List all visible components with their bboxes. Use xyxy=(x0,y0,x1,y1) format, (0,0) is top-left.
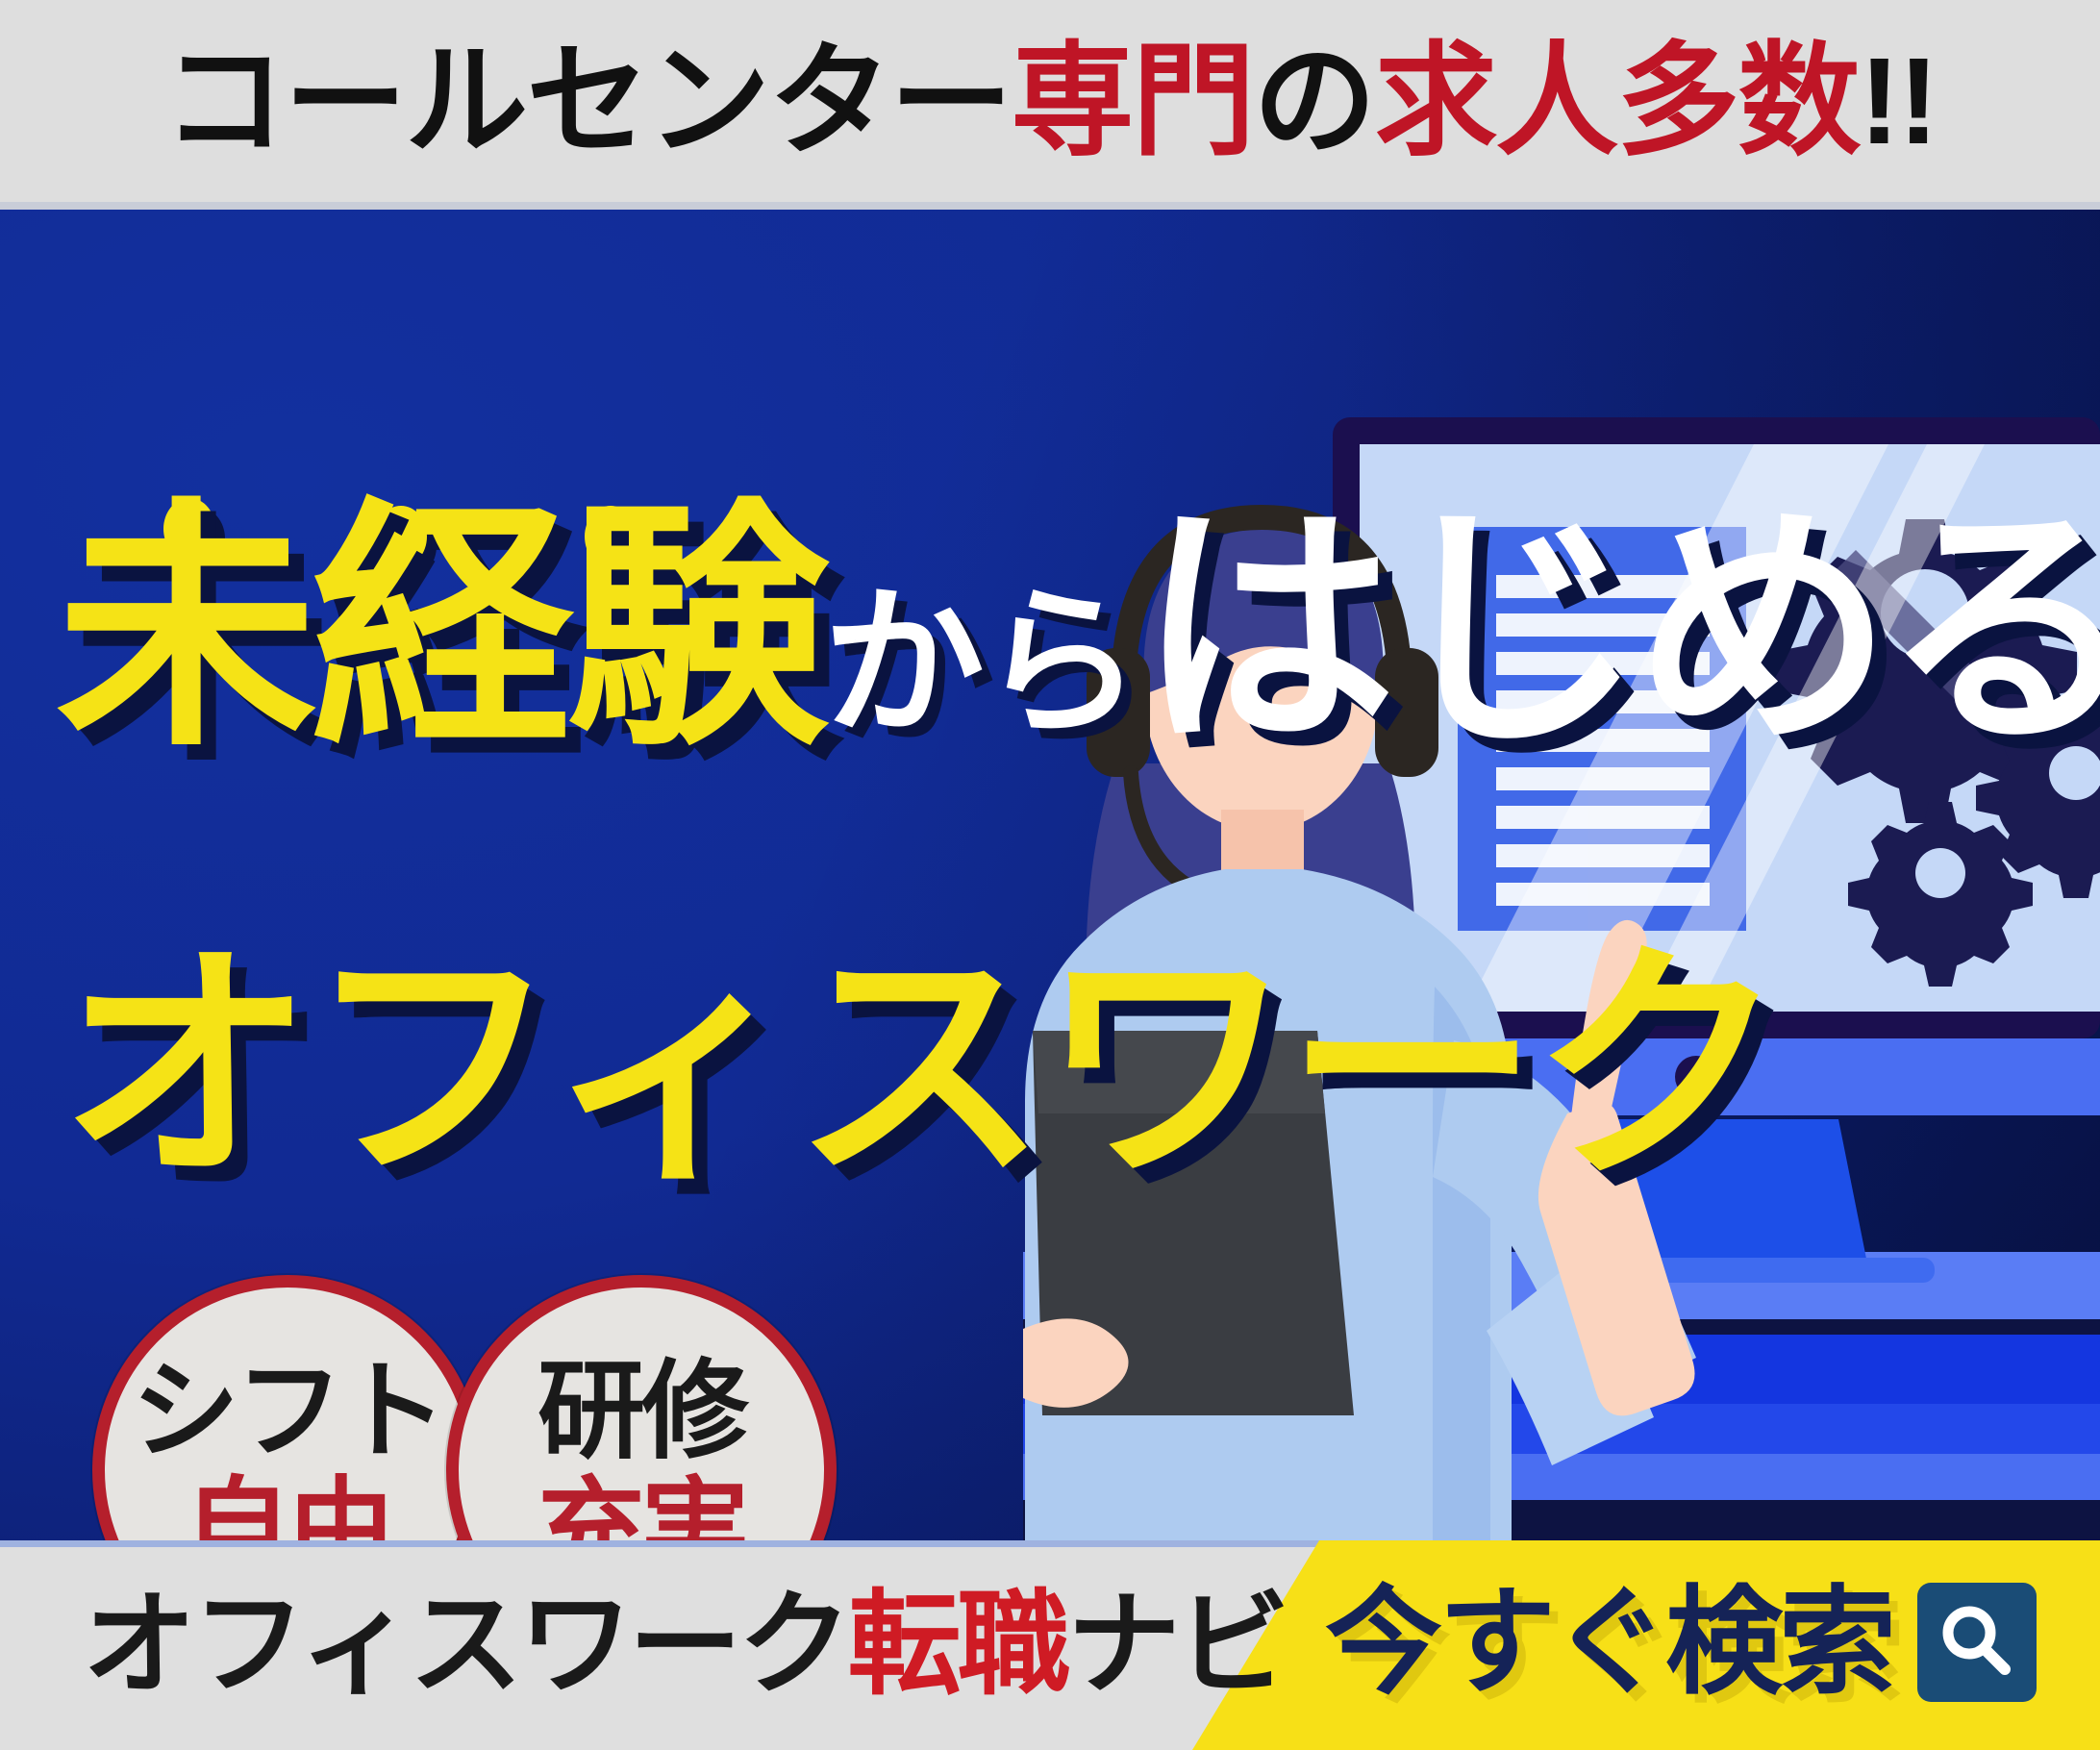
tagline-part-2: 専門 xyxy=(1011,33,1253,170)
top-tagline-strip: コールセンター専門の求人多数!! xyxy=(0,0,2100,210)
brand-part-3: ナビ xyxy=(1067,1582,1287,1709)
tagline-part-4: 求人多数 xyxy=(1374,33,1859,170)
tagline-part-5: !! xyxy=(1859,33,1937,170)
headline-particle: から xyxy=(823,573,1138,754)
headline-line-2: オフィスワーク xyxy=(60,940,1778,1194)
search-icon[interactable] xyxy=(1917,1583,2037,1702)
badge-2-bottom-label: 充実 xyxy=(537,1474,745,1540)
headline-line-2-text: オフィスワーク xyxy=(60,925,1778,1209)
tagline-text: コールセンター専門の求人多数!! xyxy=(162,40,1937,169)
headline-highlight: 未経験 xyxy=(56,483,823,775)
main-blue-panel: 未経験からはじめる オフィスワーク シフト 自由 研修 充実 xyxy=(0,210,2100,1540)
badge-2-top-label: 研修 xyxy=(537,1357,745,1466)
brand-part-1: オフィスワーク xyxy=(83,1582,848,1709)
job-ad-banner: コールセンター専門の求人多数!! xyxy=(0,0,2100,1750)
badge-1-bottom-label: 自由 xyxy=(184,1474,391,1540)
headline-rest: はじめる xyxy=(1138,486,2100,774)
brand-logo-text: オフィスワーク転職ナビ xyxy=(83,1588,1287,1702)
strip-divider xyxy=(0,202,2100,210)
search-cta[interactable]: 今すぐ検索 xyxy=(1325,1583,2037,1702)
search-icon-glyph xyxy=(1936,1601,2018,1684)
gear-small-hole xyxy=(1915,848,1965,898)
headline-line-1: 未経験からはじめる xyxy=(56,498,2100,760)
tagline-part-1: コールセンター xyxy=(162,33,1011,170)
brand-part-2: 転職 xyxy=(848,1582,1067,1709)
badge-1-top-label: シフト xyxy=(132,1357,443,1466)
bottom-bar: オフィスワーク転職ナビ 今すぐ検索 xyxy=(0,1540,2100,1750)
cta-label: 今すぐ検索 xyxy=(1325,1584,1892,1701)
tagline-part-3: の xyxy=(1253,33,1374,170)
